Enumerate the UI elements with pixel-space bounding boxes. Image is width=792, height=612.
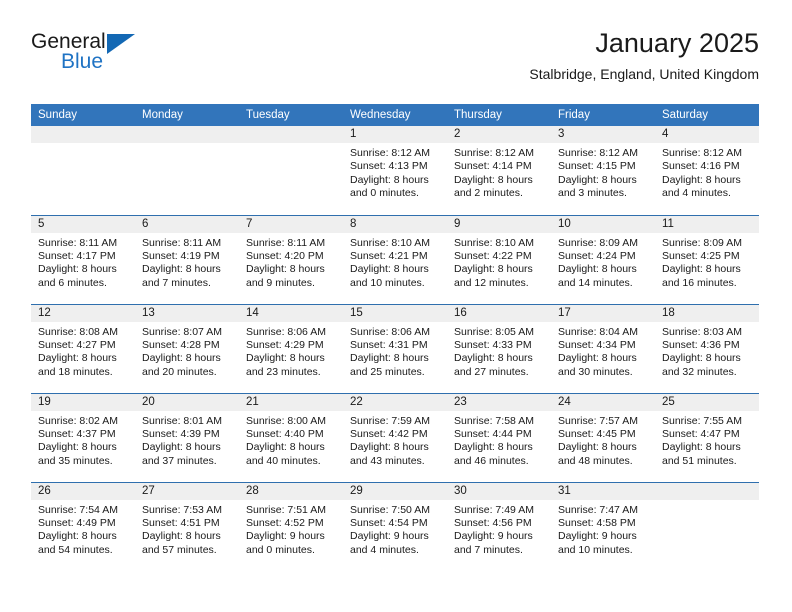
sunrise-text: Sunrise: 8:07 AM: [142, 326, 233, 339]
sunset-text: Sunset: 4:52 PM: [246, 517, 337, 530]
day-details: Sunrise: 8:00 AMSunset: 4:40 PMDaylight:…: [239, 411, 343, 469]
daylight-text-line2: and 37 minutes.: [142, 455, 233, 468]
day-number: 29: [343, 483, 447, 500]
daylight-text-line1: Daylight: 9 hours: [350, 530, 441, 543]
day-number: 30: [447, 483, 551, 500]
calendar-body: 1Sunrise: 8:12 AMSunset: 4:13 PMDaylight…: [31, 126, 759, 571]
sunrise-text: Sunrise: 8:04 AM: [558, 326, 649, 339]
calendar-day-cell[interactable]: 17Sunrise: 8:04 AMSunset: 4:34 PMDayligh…: [551, 304, 655, 393]
calendar-day-cell[interactable]: 1Sunrise: 8:12 AMSunset: 4:13 PMDaylight…: [343, 126, 447, 215]
sunset-text: Sunset: 4:15 PM: [558, 160, 649, 173]
day-details: Sunrise: 7:54 AMSunset: 4:49 PMDaylight:…: [31, 500, 135, 558]
calendar-header-row: SundayMondayTuesdayWednesdayThursdayFrid…: [31, 104, 759, 126]
sunset-text: Sunset: 4:17 PM: [38, 250, 129, 263]
calendar-day-cell[interactable]: 27Sunrise: 7:53 AMSunset: 4:51 PMDayligh…: [135, 482, 239, 571]
calendar-day-cell-empty: [655, 482, 759, 571]
day-number: 28: [239, 483, 343, 500]
title-block: January 2025 Stalbridge, England, United…: [529, 26, 759, 85]
weekday-header-tuesday: Tuesday: [239, 104, 343, 126]
daylight-text-line2: and 7 minutes.: [142, 277, 233, 290]
daylight-text-line1: Daylight: 9 hours: [454, 530, 545, 543]
sunset-text: Sunset: 4:47 PM: [662, 428, 753, 441]
daylight-text-line1: Daylight: 8 hours: [142, 352, 233, 365]
daylight-text-line1: Daylight: 8 hours: [350, 352, 441, 365]
day-details: Sunrise: 7:57 AMSunset: 4:45 PMDaylight:…: [551, 411, 655, 469]
daylight-text-line1: Daylight: 8 hours: [454, 441, 545, 454]
day-number: 6: [135, 216, 239, 233]
sunset-text: Sunset: 4:45 PM: [558, 428, 649, 441]
calendar-day-cell[interactable]: 24Sunrise: 7:57 AMSunset: 4:45 PMDayligh…: [551, 393, 655, 482]
sunrise-text: Sunrise: 8:12 AM: [558, 147, 649, 160]
day-number: 10: [551, 216, 655, 233]
day-details: Sunrise: 7:53 AMSunset: 4:51 PMDaylight:…: [135, 500, 239, 558]
day-details: Sunrise: 8:11 AMSunset: 4:20 PMDaylight:…: [239, 233, 343, 291]
day-details: Sunrise: 8:01 AMSunset: 4:39 PMDaylight:…: [135, 411, 239, 469]
sunrise-text: Sunrise: 8:01 AM: [142, 415, 233, 428]
day-details: Sunrise: 8:02 AMSunset: 4:37 PMDaylight:…: [31, 411, 135, 469]
sunset-text: Sunset: 4:33 PM: [454, 339, 545, 352]
daylight-text-line1: Daylight: 8 hours: [558, 263, 649, 276]
daylight-text-line2: and 4 minutes.: [350, 544, 441, 557]
sunrise-text: Sunrise: 8:08 AM: [38, 326, 129, 339]
day-number: 15: [343, 305, 447, 322]
sunset-text: Sunset: 4:13 PM: [350, 160, 441, 173]
sunrise-text: Sunrise: 8:12 AM: [662, 147, 753, 160]
calendar-day-cell[interactable]: 31Sunrise: 7:47 AMSunset: 4:58 PMDayligh…: [551, 482, 655, 571]
sunset-text: Sunset: 4:49 PM: [38, 517, 129, 530]
daylight-text-line2: and 9 minutes.: [246, 277, 337, 290]
daylight-text-line2: and 25 minutes.: [350, 366, 441, 379]
day-number: 16: [447, 305, 551, 322]
daylight-text-line1: Daylight: 8 hours: [454, 263, 545, 276]
daylight-text-line1: Daylight: 8 hours: [454, 174, 545, 187]
day-number: 11: [655, 216, 759, 233]
sunrise-text: Sunrise: 8:05 AM: [454, 326, 545, 339]
calendar-day-cell[interactable]: 11Sunrise: 8:09 AMSunset: 4:25 PMDayligh…: [655, 215, 759, 304]
sunset-text: Sunset: 4:36 PM: [662, 339, 753, 352]
daylight-text-line2: and 57 minutes.: [142, 544, 233, 557]
sunrise-text: Sunrise: 8:09 AM: [558, 237, 649, 250]
day-details: Sunrise: 8:04 AMSunset: 4:34 PMDaylight:…: [551, 322, 655, 380]
calendar-day-cell[interactable]: 7Sunrise: 8:11 AMSunset: 4:20 PMDaylight…: [239, 215, 343, 304]
calendar-table: SundayMondayTuesdayWednesdayThursdayFrid…: [31, 104, 759, 571]
daylight-text-line1: Daylight: 8 hours: [662, 174, 753, 187]
day-details: Sunrise: 8:10 AMSunset: 4:22 PMDaylight:…: [447, 233, 551, 291]
daylight-text-line1: Daylight: 8 hours: [662, 352, 753, 365]
daylight-text-line1: Daylight: 9 hours: [246, 530, 337, 543]
sunrise-text: Sunrise: 7:47 AM: [558, 504, 649, 517]
calendar-day-cell[interactable]: 16Sunrise: 8:05 AMSunset: 4:33 PMDayligh…: [447, 304, 551, 393]
day-number: 8: [343, 216, 447, 233]
sunset-text: Sunset: 4:16 PM: [662, 160, 753, 173]
day-number: [31, 126, 135, 143]
calendar-day-cell-empty: [135, 126, 239, 215]
daylight-text-line2: and 7 minutes.: [454, 544, 545, 557]
sunrise-text: Sunrise: 8:02 AM: [38, 415, 129, 428]
day-number: [239, 126, 343, 143]
sunrise-text: Sunrise: 8:09 AM: [662, 237, 753, 250]
calendar-day-cell[interactable]: 22Sunrise: 7:59 AMSunset: 4:42 PMDayligh…: [343, 393, 447, 482]
calendar-day-cell[interactable]: 6Sunrise: 8:11 AMSunset: 4:19 PMDaylight…: [135, 215, 239, 304]
sunset-text: Sunset: 4:56 PM: [454, 517, 545, 530]
page-title: January 2025: [529, 26, 759, 60]
daylight-text-line2: and 54 minutes.: [38, 544, 129, 557]
day-details: Sunrise: 7:55 AMSunset: 4:47 PMDaylight:…: [655, 411, 759, 469]
sunset-text: Sunset: 4:40 PM: [246, 428, 337, 441]
sunset-text: Sunset: 4:42 PM: [350, 428, 441, 441]
daylight-text-line1: Daylight: 8 hours: [350, 263, 441, 276]
daylight-text-line2: and 16 minutes.: [662, 277, 753, 290]
calendar-container: SundayMondayTuesdayWednesdayThursdayFrid…: [31, 104, 759, 571]
page-header: General Blue January 2025 Stalbridge, En…: [31, 26, 759, 96]
sunset-text: Sunset: 4:34 PM: [558, 339, 649, 352]
sunrise-text: Sunrise: 7:54 AM: [38, 504, 129, 517]
sunrise-text: Sunrise: 7:50 AM: [350, 504, 441, 517]
day-details: Sunrise: 8:10 AMSunset: 4:21 PMDaylight:…: [343, 233, 447, 291]
sunrise-text: Sunrise: 8:00 AM: [246, 415, 337, 428]
sunset-text: Sunset: 4:37 PM: [38, 428, 129, 441]
day-number: 5: [31, 216, 135, 233]
day-number: 17: [551, 305, 655, 322]
calendar-day-cell[interactable]: 30Sunrise: 7:49 AMSunset: 4:56 PMDayligh…: [447, 482, 551, 571]
day-details: Sunrise: 7:50 AMSunset: 4:54 PMDaylight:…: [343, 500, 447, 558]
daylight-text-line1: Daylight: 8 hours: [142, 263, 233, 276]
day-number: 20: [135, 394, 239, 411]
calendar-day-cell[interactable]: 8Sunrise: 8:10 AMSunset: 4:21 PMDaylight…: [343, 215, 447, 304]
sunrise-text: Sunrise: 7:51 AM: [246, 504, 337, 517]
day-number: 7: [239, 216, 343, 233]
day-number: 24: [551, 394, 655, 411]
daylight-text-line2: and 23 minutes.: [246, 366, 337, 379]
day-details: Sunrise: 8:07 AMSunset: 4:28 PMDaylight:…: [135, 322, 239, 380]
calendar-day-cell[interactable]: 28Sunrise: 7:51 AMSunset: 4:52 PMDayligh…: [239, 482, 343, 571]
sunset-text: Sunset: 4:22 PM: [454, 250, 545, 263]
daylight-text-line2: and 6 minutes.: [38, 277, 129, 290]
calendar-day-cell[interactable]: 14Sunrise: 8:06 AMSunset: 4:29 PMDayligh…: [239, 304, 343, 393]
daylight-text-line2: and 10 minutes.: [350, 277, 441, 290]
daylight-text-line1: Daylight: 8 hours: [558, 174, 649, 187]
day-details: Sunrise: 8:08 AMSunset: 4:27 PMDaylight:…: [31, 322, 135, 380]
daylight-text-line2: and 2 minutes.: [454, 187, 545, 200]
sunrise-text: Sunrise: 7:55 AM: [662, 415, 753, 428]
sunset-text: Sunset: 4:51 PM: [142, 517, 233, 530]
day-number: 31: [551, 483, 655, 500]
calendar-week-row: 26Sunrise: 7:54 AMSunset: 4:49 PMDayligh…: [31, 482, 759, 571]
day-number: 14: [239, 305, 343, 322]
sunrise-text: Sunrise: 8:06 AM: [350, 326, 441, 339]
daylight-text-line2: and 35 minutes.: [38, 455, 129, 468]
calendar-day-cell[interactable]: 19Sunrise: 8:02 AMSunset: 4:37 PMDayligh…: [31, 393, 135, 482]
daylight-text-line1: Daylight: 8 hours: [558, 441, 649, 454]
daylight-text-line2: and 0 minutes.: [246, 544, 337, 557]
day-number: 22: [343, 394, 447, 411]
day-number: 25: [655, 394, 759, 411]
calendar-day-cell-empty: [31, 126, 135, 215]
sunset-text: Sunset: 4:19 PM: [142, 250, 233, 263]
day-number: 12: [31, 305, 135, 322]
daylight-text-line1: Daylight: 8 hours: [142, 530, 233, 543]
day-number: 9: [447, 216, 551, 233]
day-details: Sunrise: 7:58 AMSunset: 4:44 PMDaylight:…: [447, 411, 551, 469]
calendar-week-row: 19Sunrise: 8:02 AMSunset: 4:37 PMDayligh…: [31, 393, 759, 482]
brand-logo[interactable]: General Blue: [31, 30, 151, 80]
day-number: [655, 483, 759, 500]
weekday-header-thursday: Thursday: [447, 104, 551, 126]
daylight-text-line2: and 30 minutes.: [558, 366, 649, 379]
calendar-week-row: 5Sunrise: 8:11 AMSunset: 4:17 PMDaylight…: [31, 215, 759, 304]
calendar-week-row: 1Sunrise: 8:12 AMSunset: 4:13 PMDaylight…: [31, 126, 759, 215]
daylight-text-line2: and 0 minutes.: [350, 187, 441, 200]
day-number: 4: [655, 126, 759, 143]
sunrise-text: Sunrise: 8:03 AM: [662, 326, 753, 339]
sunset-text: Sunset: 4:14 PM: [454, 160, 545, 173]
day-number: 23: [447, 394, 551, 411]
brand-triangle-icon: [107, 34, 135, 54]
day-details: Sunrise: 8:11 AMSunset: 4:19 PMDaylight:…: [135, 233, 239, 291]
daylight-text-line1: Daylight: 9 hours: [558, 530, 649, 543]
weekday-header-sunday: Sunday: [31, 104, 135, 126]
day-details: Sunrise: 7:49 AMSunset: 4:56 PMDaylight:…: [447, 500, 551, 558]
sunrise-text: Sunrise: 7:53 AM: [142, 504, 233, 517]
daylight-text-line2: and 20 minutes.: [142, 366, 233, 379]
sunset-text: Sunset: 4:20 PM: [246, 250, 337, 263]
calendar-day-cell[interactable]: 25Sunrise: 7:55 AMSunset: 4:47 PMDayligh…: [655, 393, 759, 482]
sunset-text: Sunset: 4:28 PM: [142, 339, 233, 352]
day-details: Sunrise: 8:12 AMSunset: 4:13 PMDaylight:…: [343, 143, 447, 201]
calendar-week-row: 12Sunrise: 8:08 AMSunset: 4:27 PMDayligh…: [31, 304, 759, 393]
day-details: Sunrise: 8:09 AMSunset: 4:25 PMDaylight:…: [655, 233, 759, 291]
calendar-day-cell[interactable]: 29Sunrise: 7:50 AMSunset: 4:54 PMDayligh…: [343, 482, 447, 571]
daylight-text-line1: Daylight: 8 hours: [662, 263, 753, 276]
daylight-text-line2: and 10 minutes.: [558, 544, 649, 557]
sunrise-text: Sunrise: 8:12 AM: [350, 147, 441, 160]
calendar-day-cell[interactable]: 20Sunrise: 8:01 AMSunset: 4:39 PMDayligh…: [135, 393, 239, 482]
day-details: Sunrise: 8:09 AMSunset: 4:24 PMDaylight:…: [551, 233, 655, 291]
daylight-text-line2: and 32 minutes.: [662, 366, 753, 379]
weekday-header-saturday: Saturday: [655, 104, 759, 126]
calendar-day-cell[interactable]: 18Sunrise: 8:03 AMSunset: 4:36 PMDayligh…: [655, 304, 759, 393]
sunset-text: Sunset: 4:21 PM: [350, 250, 441, 263]
sunrise-text: Sunrise: 8:10 AM: [454, 237, 545, 250]
day-number: 3: [551, 126, 655, 143]
sunset-text: Sunset: 4:25 PM: [662, 250, 753, 263]
weekday-header-monday: Monday: [135, 104, 239, 126]
calendar-day-cell[interactable]: 9Sunrise: 8:10 AMSunset: 4:22 PMDaylight…: [447, 215, 551, 304]
day-details: Sunrise: 8:12 AMSunset: 4:15 PMDaylight:…: [551, 143, 655, 201]
sunrise-text: Sunrise: 8:11 AM: [38, 237, 129, 250]
daylight-text-line1: Daylight: 8 hours: [38, 530, 129, 543]
sunrise-text: Sunrise: 8:10 AM: [350, 237, 441, 250]
daylight-text-line2: and 12 minutes.: [454, 277, 545, 290]
daylight-text-line2: and 3 minutes.: [558, 187, 649, 200]
day-details: Sunrise: 8:06 AMSunset: 4:31 PMDaylight:…: [343, 322, 447, 380]
calendar-day-cell[interactable]: 5Sunrise: 8:11 AMSunset: 4:17 PMDaylight…: [31, 215, 135, 304]
daylight-text-line1: Daylight: 8 hours: [38, 263, 129, 276]
calendar-page: General Blue January 2025 Stalbridge, En…: [0, 0, 792, 612]
sunrise-text: Sunrise: 7:49 AM: [454, 504, 545, 517]
brand-name-blue: Blue: [61, 50, 103, 74]
day-number: 27: [135, 483, 239, 500]
daylight-text-line2: and 18 minutes.: [38, 366, 129, 379]
calendar-day-cell[interactable]: 12Sunrise: 8:08 AMSunset: 4:27 PMDayligh…: [31, 304, 135, 393]
daylight-text-line1: Daylight: 8 hours: [662, 441, 753, 454]
day-details: Sunrise: 8:12 AMSunset: 4:14 PMDaylight:…: [447, 143, 551, 201]
sunrise-text: Sunrise: 8:12 AM: [454, 147, 545, 160]
daylight-text-line2: and 46 minutes.: [454, 455, 545, 468]
day-details: Sunrise: 7:51 AMSunset: 4:52 PMDaylight:…: [239, 500, 343, 558]
sunset-text: Sunset: 4:44 PM: [454, 428, 545, 441]
sunset-text: Sunset: 4:29 PM: [246, 339, 337, 352]
sunrise-text: Sunrise: 8:11 AM: [142, 237, 233, 250]
day-details: Sunrise: 8:11 AMSunset: 4:17 PMDaylight:…: [31, 233, 135, 291]
calendar-day-cell[interactable]: 23Sunrise: 7:58 AMSunset: 4:44 PMDayligh…: [447, 393, 551, 482]
day-details: Sunrise: 8:05 AMSunset: 4:33 PMDaylight:…: [447, 322, 551, 380]
daylight-text-line2: and 48 minutes.: [558, 455, 649, 468]
daylight-text-line1: Daylight: 8 hours: [454, 352, 545, 365]
day-details: Sunrise: 8:06 AMSunset: 4:29 PMDaylight:…: [239, 322, 343, 380]
calendar-day-cell[interactable]: 26Sunrise: 7:54 AMSunset: 4:49 PMDayligh…: [31, 482, 135, 571]
day-number: 18: [655, 305, 759, 322]
calendar-day-cell[interactable]: 21Sunrise: 8:00 AMSunset: 4:40 PMDayligh…: [239, 393, 343, 482]
day-number: [135, 126, 239, 143]
daylight-text-line1: Daylight: 8 hours: [350, 174, 441, 187]
daylight-text-line2: and 27 minutes.: [454, 366, 545, 379]
sunrise-text: Sunrise: 8:06 AM: [246, 326, 337, 339]
day-number: 26: [31, 483, 135, 500]
daylight-text-line1: Daylight: 8 hours: [38, 352, 129, 365]
day-details: Sunrise: 8:03 AMSunset: 4:36 PMDaylight:…: [655, 322, 759, 380]
calendar-day-cell[interactable]: 3Sunrise: 8:12 AMSunset: 4:15 PMDaylight…: [551, 126, 655, 215]
calendar-day-cell[interactable]: 10Sunrise: 8:09 AMSunset: 4:24 PMDayligh…: [551, 215, 655, 304]
daylight-text-line1: Daylight: 8 hours: [246, 352, 337, 365]
sunset-text: Sunset: 4:39 PM: [142, 428, 233, 441]
sunrise-text: Sunrise: 7:58 AM: [454, 415, 545, 428]
day-details: Sunrise: 7:59 AMSunset: 4:42 PMDaylight:…: [343, 411, 447, 469]
daylight-text-line1: Daylight: 8 hours: [246, 441, 337, 454]
day-number: 19: [31, 394, 135, 411]
weekday-header-friday: Friday: [551, 104, 655, 126]
daylight-text-line1: Daylight: 8 hours: [350, 441, 441, 454]
day-details: Sunrise: 7:47 AMSunset: 4:58 PMDaylight:…: [551, 500, 655, 558]
daylight-text-line1: Daylight: 8 hours: [558, 352, 649, 365]
calendar-day-cell[interactable]: 15Sunrise: 8:06 AMSunset: 4:31 PMDayligh…: [343, 304, 447, 393]
calendar-day-cell[interactable]: 4Sunrise: 8:12 AMSunset: 4:16 PMDaylight…: [655, 126, 759, 215]
sunset-text: Sunset: 4:24 PM: [558, 250, 649, 263]
sunset-text: Sunset: 4:27 PM: [38, 339, 129, 352]
day-number: 2: [447, 126, 551, 143]
daylight-text-line1: Daylight: 8 hours: [246, 263, 337, 276]
day-details: Sunrise: 8:12 AMSunset: 4:16 PMDaylight:…: [655, 143, 759, 201]
sunset-text: Sunset: 4:31 PM: [350, 339, 441, 352]
sunrise-text: Sunrise: 7:59 AM: [350, 415, 441, 428]
day-number: 21: [239, 394, 343, 411]
page-subtitle: Stalbridge, England, United Kingdom: [529, 63, 759, 85]
day-number: 1: [343, 126, 447, 143]
calendar-day-cell[interactable]: 2Sunrise: 8:12 AMSunset: 4:14 PMDaylight…: [447, 126, 551, 215]
weekday-header-wednesday: Wednesday: [343, 104, 447, 126]
sunrise-text: Sunrise: 8:11 AM: [246, 237, 337, 250]
daylight-text-line2: and 4 minutes.: [662, 187, 753, 200]
daylight-text-line2: and 43 minutes.: [350, 455, 441, 468]
day-number: 13: [135, 305, 239, 322]
sunset-text: Sunset: 4:54 PM: [350, 517, 441, 530]
calendar-day-cell-empty: [239, 126, 343, 215]
daylight-text-line2: and 40 minutes.: [246, 455, 337, 468]
sunrise-text: Sunrise: 7:57 AM: [558, 415, 649, 428]
daylight-text-line2: and 14 minutes.: [558, 277, 649, 290]
daylight-text-line1: Daylight: 8 hours: [38, 441, 129, 454]
sunset-text: Sunset: 4:58 PM: [558, 517, 649, 530]
daylight-text-line1: Daylight: 8 hours: [142, 441, 233, 454]
daylight-text-line2: and 51 minutes.: [662, 455, 753, 468]
calendar-day-cell[interactable]: 13Sunrise: 8:07 AMSunset: 4:28 PMDayligh…: [135, 304, 239, 393]
